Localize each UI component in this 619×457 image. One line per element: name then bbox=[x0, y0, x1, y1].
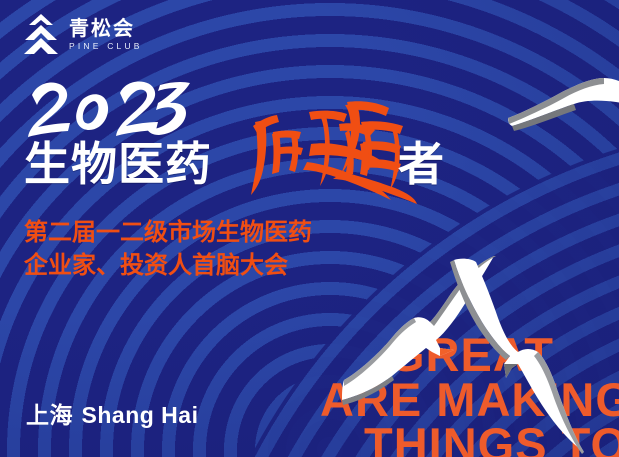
seagull-icon bbox=[506, 0, 619, 130]
poster-canvas: GREAT ARE MAKING THINGS TO bbox=[0, 0, 619, 457]
pine-tree-chevron-icon bbox=[22, 12, 60, 56]
headline-tail: 者 bbox=[398, 139, 444, 189]
subtitle-line-2: 企业家、投资人首脑大会 bbox=[24, 249, 312, 282]
event-location: 上海 Shang Hai bbox=[26, 396, 198, 430]
brand-name-cn: 青松会 bbox=[69, 18, 143, 39]
seagull-icon bbox=[432, 256, 619, 456]
location-en: Shang Hai bbox=[82, 402, 199, 428]
brand-name-en: PINE CLUB bbox=[69, 42, 143, 51]
location-cn: 上海 bbox=[26, 403, 73, 429]
event-subtitle: 第二届一二级市场生物医药 企业家、投资人首脑大会 bbox=[24, 216, 312, 282]
brand-logo-text: 青松会 PINE CLUB bbox=[69, 18, 143, 51]
subtitle-line-1: 第二届一二级市场生物医药 bbox=[24, 216, 312, 249]
brand-logo[interactable]: 青松会 PINE CLUB bbox=[22, 12, 143, 56]
headline-main: 生物医药 bbox=[24, 139, 212, 189]
headline-calligraphy bbox=[243, 100, 418, 208]
year-2023 bbox=[26, 79, 191, 141]
